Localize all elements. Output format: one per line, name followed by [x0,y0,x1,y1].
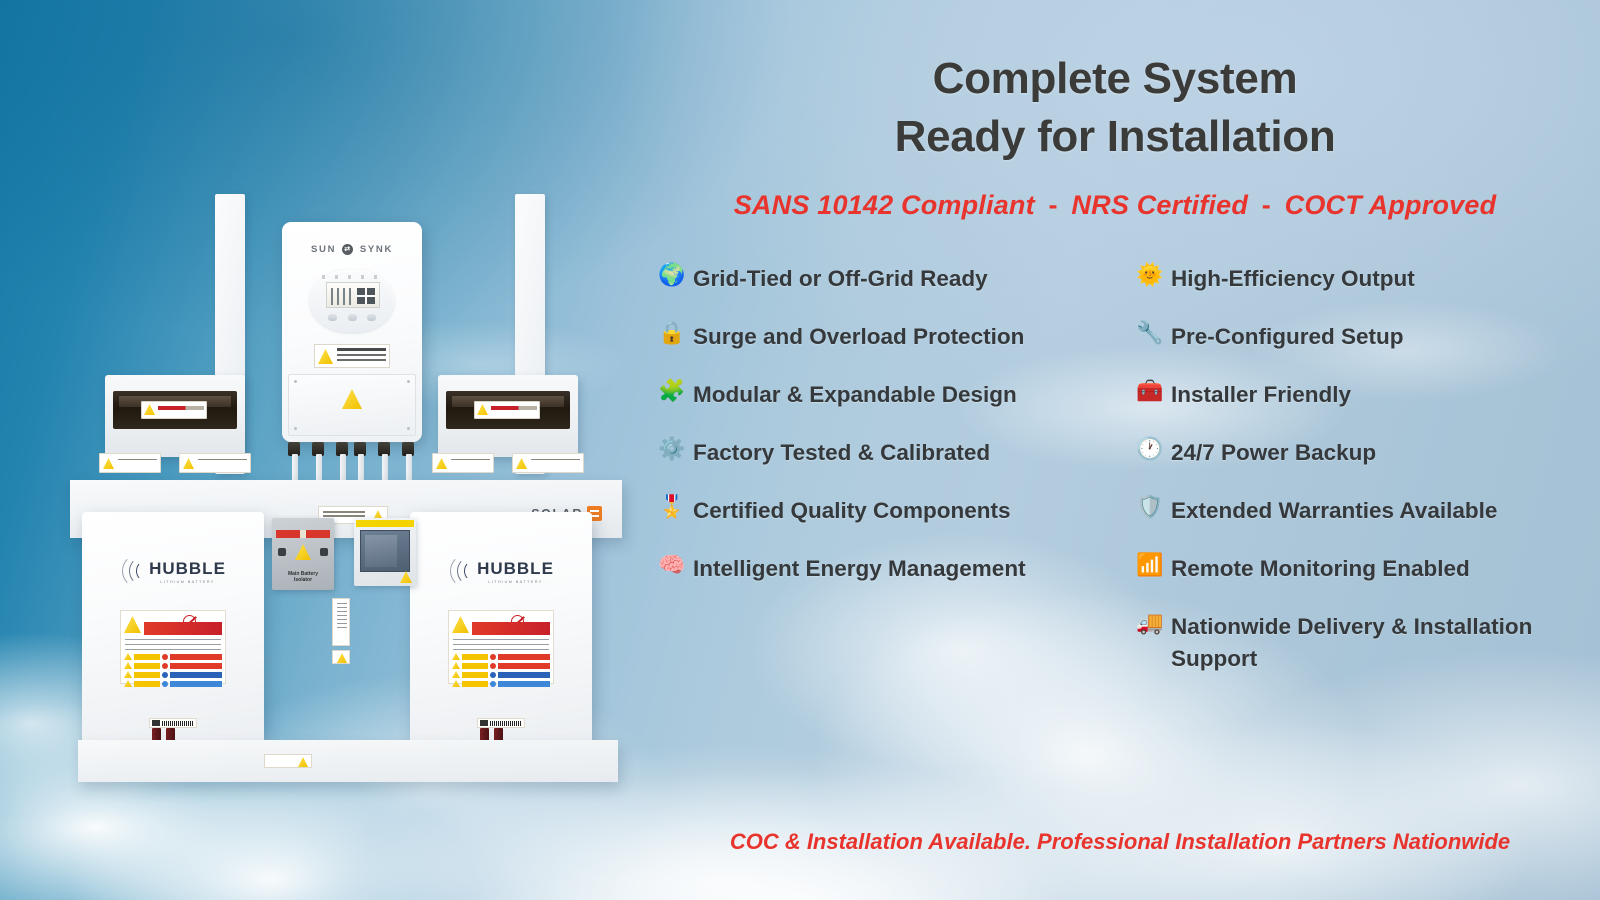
warning-label [264,754,312,768]
danger-rows [124,653,222,689]
hubble-battery-left: HUBBLE LITHIUM BATTERY [82,512,264,744]
isolator-label-line1: Main Battery [288,571,318,577]
feature-item: 🔧 Pre-Configured Setup [1136,321,1578,353]
button-left [328,314,337,321]
delivery-truck-icon: 🚚 [1136,611,1162,636]
warning-label [179,453,251,473]
yellow-warning-strip [356,520,414,527]
feature-item: 🔒 Surge and Overload Protection [658,321,1100,353]
inverter-brand-text: SUN [311,244,336,255]
warning-label [432,453,494,473]
headline-line-1: Complete System [933,54,1298,103]
electric-shock-warning-icon [400,571,412,583]
isolator-switch-banner [276,530,330,538]
inverter-brand-text-2: SYNK [360,244,393,255]
hubble-arcs-icon [448,554,474,588]
marketing-content: Complete System Ready for Installation S… [630,0,1600,900]
warning-label [512,453,584,473]
inverter-display-panel [310,270,394,332]
lcd-grid-icon [357,288,375,304]
feature-column-right: 🌞 High-Efficiency Output 🔧 Pre-Configure… [1118,263,1578,701]
warning-label [474,401,540,419]
led-indicators [322,275,382,279]
electric-shock-warning-icon [318,349,333,364]
danger-banner [144,622,222,635]
danger-row [124,671,222,678]
isolator-label: Main Battery Isolator [272,571,334,585]
compliance-coct: COCT Approved [1285,190,1497,220]
feature-label: Installer Friendly [1171,379,1351,411]
plate-icon [152,720,160,726]
footer-note: COC & Installation Available. Profession… [660,825,1580,858]
feature-label: High-Efficiency Output [1171,263,1415,295]
button-up [348,314,357,321]
brain-icon: 🧠 [658,553,684,578]
inverter-warning-label [314,344,390,368]
feature-column-left: 🌍 Grid-Tied or Off-Grid Ready 🔒 Surge an… [658,263,1100,701]
lock-icon: 🔒 [658,321,684,346]
feature-item: 🌍 Grid-Tied or Off-Grid Ready [658,263,1100,295]
label-detail-lines [125,639,221,651]
shield-icon: 🛡️ [1136,495,1162,520]
puzzle-piece-icon: 🧩 [658,379,684,404]
danger-row [452,653,550,660]
sun-icon: 🌞 [1136,263,1162,288]
hubble-tagline: LITHIUM BATTERY [477,580,554,584]
warning-label [99,453,161,473]
compliance-sans: SANS 10142 Compliant [734,190,1035,220]
sunsynk-inverter: SUN ⇄ SYNK [282,222,422,442]
combiner-interior [360,530,410,572]
screw [407,380,410,383]
hubble-name: HUBBLE [149,559,226,578]
feature-item: 📶 Remote Monitoring Enabled [1136,553,1578,585]
hubble-tagline: LITHIUM BATTERY [149,580,226,584]
medal-icon: 🎖️ [658,495,684,520]
compliance-banner: SANS 10142 Compliant - NRS Certified - C… [630,190,1600,221]
feature-label: 24/7 Power Backup [1171,437,1376,469]
compliance-nrs: NRS Certified [1071,190,1248,220]
feature-grid: 🌍 Grid-Tied or Off-Grid Ready 🔒 Surge an… [630,263,1600,701]
feature-label: Intelligent Energy Management [693,553,1026,585]
main-battery-isolator: Main Battery Isolator [272,518,334,590]
plate-icon [480,720,488,726]
danger-warning-icon [124,616,141,633]
battery-safety-label [120,610,226,684]
warning-label [141,401,207,419]
label-header [452,614,550,636]
danger-banner [472,622,550,635]
feature-item: 🎖️ Certified Quality Components [658,495,1100,527]
screw [294,380,297,383]
feature-label: Factory Tested & Calibrated [693,437,990,469]
screw [294,427,297,430]
screw [407,427,410,430]
feature-label: Pre-Configured Setup [1171,321,1404,353]
lcd-screen [326,282,380,308]
feature-item: 🧠 Intelligent Energy Management [658,553,1100,585]
danger-rows [452,653,550,689]
sunsynk-swirl-icon: ⇄ [342,244,353,255]
hubble-battery-right: HUBBLE LITHIUM BATTERY [410,512,592,744]
warning-title-line [337,348,386,351]
feature-item: 🧰 Installer Friendly [1136,379,1578,411]
feature-item: 🧩 Modular & Expandable Design [658,379,1100,411]
battery-safety-label [448,610,554,684]
inverter-buttons [310,308,394,326]
separator: - [1043,190,1064,220]
hubble-brand-text: HUBBLE LITHIUM BATTERY [149,559,226,584]
page-title: Complete System Ready for Installation [630,0,1600,166]
distribution-board-right [438,375,578,457]
plate-text [162,721,194,726]
hubble-logo: HUBBLE LITHIUM BATTERY [410,554,592,588]
danger-row [124,662,222,669]
danger-row [124,680,222,687]
distribution-board-left [105,375,245,457]
danger-row [452,680,550,687]
hubble-logo: HUBBLE LITHIUM BATTERY [82,554,264,588]
separator: - [1256,190,1277,220]
plate-text [490,721,522,726]
danger-row [452,662,550,669]
hubble-arcs-icon [120,554,146,588]
lcd-bars-icon [331,288,351,305]
solar-system-product-image: SUN ⇄ SYNK [60,180,640,780]
hubble-name: HUBBLE [477,559,554,578]
gear-icon: ⚙️ [658,437,684,462]
feature-label: Surge and Overload Protection [693,321,1024,353]
toolbox-icon: 🧰 [1136,379,1162,404]
feature-label: Remote Monitoring Enabled [1171,553,1470,585]
label-detail-lines [453,639,549,651]
headline-line-2: Ready for Installation [895,112,1336,161]
feature-item: 🛡️ Extended Warranties Available [1136,495,1578,527]
isolator-knob-left [278,548,286,556]
label-text-lines [337,603,347,631]
clock-icon: 🕐 [1136,437,1162,462]
battery-model-plate [477,718,525,728]
battery-model-plate [149,718,197,728]
feature-label: Extended Warranties Available [1171,495,1497,527]
isolator-knob-right [320,548,328,556]
warning-body-lines [337,354,386,364]
globe-icon: 🌍 [658,263,684,288]
inverter-brand-logo: SUN ⇄ SYNK [282,244,422,255]
danger-row [124,653,222,660]
mounting-board-lower [78,740,618,782]
signal-bars-icon: 📶 [1136,553,1162,578]
pv-combiner-box [354,518,416,586]
electric-shock-warning-icon [295,544,311,560]
feature-item: 🌞 High-Efficiency Output [1136,263,1578,295]
feature-label: Certified Quality Components [693,495,1011,527]
wrench-icon: 🔧 [1136,321,1162,346]
feature-label: Modular & Expandable Design [693,379,1017,411]
inverter-terminal-cover [288,374,416,436]
hubble-brand-text: HUBBLE LITHIUM BATTERY [477,559,554,584]
vertical-warning-label [332,598,350,646]
feature-item: 🕐 24/7 Power Backup [1136,437,1578,469]
isolator-label-line2: Isolator [294,577,312,583]
feature-label: Nationwide Delivery & Installation Suppo… [1171,611,1578,675]
label-header [124,614,222,636]
danger-warning-icon [452,616,469,633]
feature-item: 🚚 Nationwide Delivery & Installation Sup… [1136,611,1578,675]
feature-label: Grid-Tied or Off-Grid Ready [693,263,988,295]
danger-row [452,671,550,678]
electric-shock-warning-icon [342,389,362,409]
feature-item: ⚙️ Factory Tested & Calibrated [658,437,1100,469]
button-right [367,314,376,321]
warning-triangle-label [332,650,350,664]
